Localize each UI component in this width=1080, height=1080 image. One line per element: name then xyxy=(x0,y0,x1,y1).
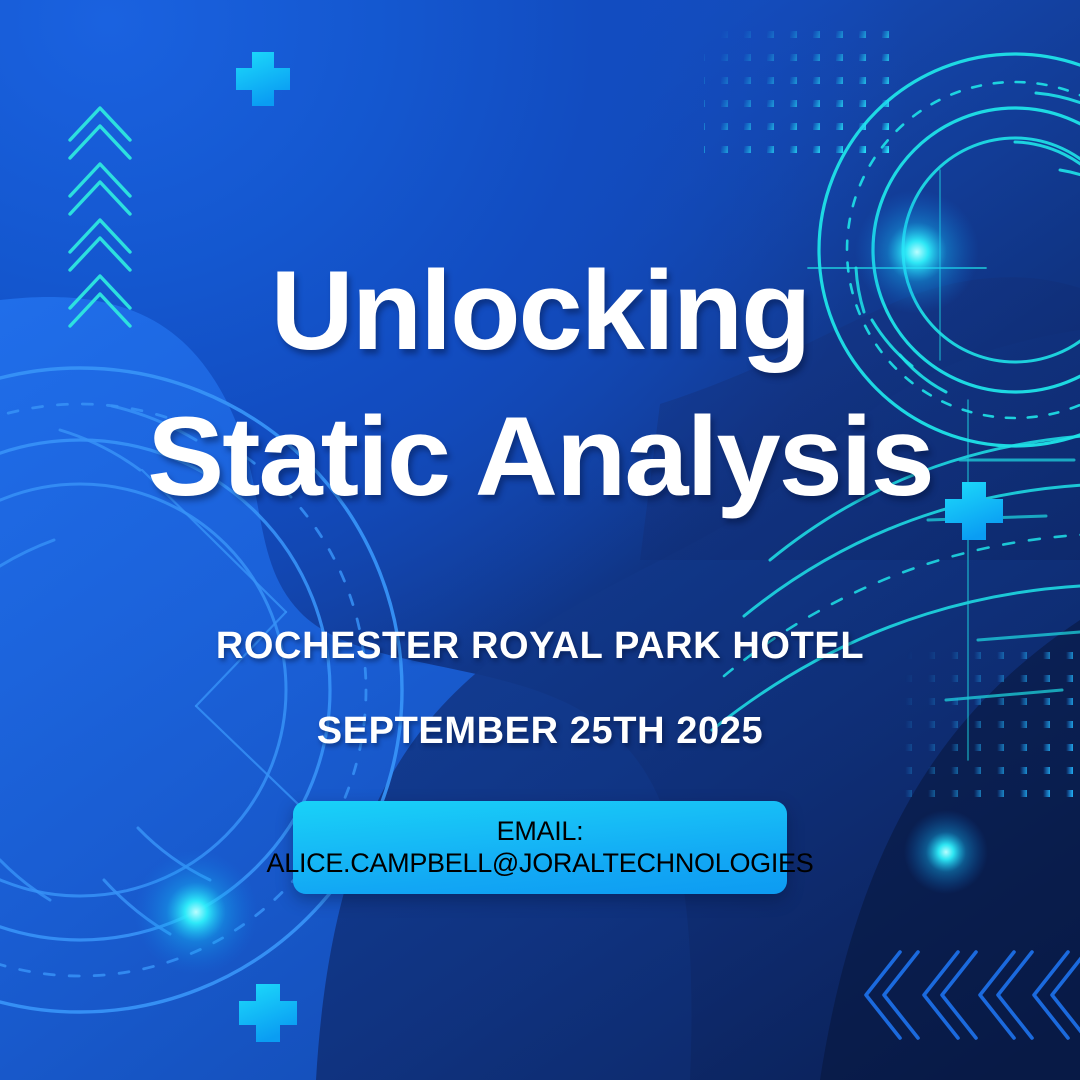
plus-icon xyxy=(236,52,290,106)
event-date-text: SEPTEMBER 25TH 2025 xyxy=(317,710,763,753)
plus-marks xyxy=(0,0,1080,1080)
email-contact-button[interactable]: EMAIL: ALICE.CAMPBELL@JORALTECHNOLOGIES xyxy=(293,801,787,894)
event-poster: Unlocking Static Analysis ROCHESTER ROYA… xyxy=(0,0,1080,1080)
email-label: EMAIL: xyxy=(497,816,584,848)
title-line-2: Static Analysis xyxy=(0,384,1080,530)
page-title: Unlocking Static Analysis xyxy=(0,238,1080,529)
title-line-1: Unlocking xyxy=(0,238,1080,384)
plus-icon xyxy=(239,984,297,1042)
venue-text: ROCHESTER ROYAL PARK HOTEL xyxy=(216,625,864,668)
email-address: ALICE.CAMPBELL@JORALTECHNOLOGIES xyxy=(267,848,814,880)
